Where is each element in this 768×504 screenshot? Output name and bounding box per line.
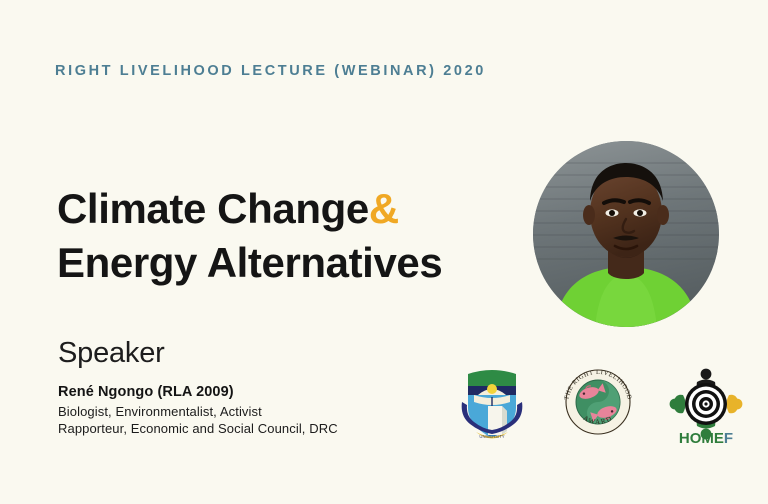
title-ampersand: & (369, 185, 399, 232)
speaker-role-line-1: Biologist, Environmentalist, Activist (58, 404, 262, 419)
homef-wordmark-f: F (724, 430, 733, 446)
speaker-portrait (533, 141, 719, 327)
speaker-name: René Ngongo (RLA 2009) (58, 384, 234, 400)
partner-logos: UNIVERSITY (440, 362, 756, 450)
svg-text:HOMEF: HOMEF (679, 430, 733, 446)
logo-right-livelihood-award: THE RIGHT LIVELIHOOD AWARD (558, 362, 638, 442)
svg-text:UNIVERSITY: UNIVERSITY (479, 434, 504, 439)
slide-kicker: RIGHT LIVELIHOOD LECTURE (WEBINAR) 2020 (55, 63, 486, 79)
logo-homef: HOMEF (662, 362, 750, 446)
page-title: Climate Change& Energy Alternatives (57, 182, 442, 290)
speaker-label: Speaker (58, 337, 165, 370)
homef-wordmark-home: HOME (679, 430, 724, 446)
presentation-slide: RIGHT LIVELIHOOD LECTURE (WEBINAR) 2020 … (0, 0, 768, 504)
title-line-2: Energy Alternatives (57, 236, 442, 290)
title-line-1-text: Climate Change (57, 185, 369, 232)
speaker-role-line-2: Rapporteur, Economic and Social Council,… (58, 421, 338, 436)
title-line-1: Climate Change& (57, 182, 442, 236)
logo-university-crest: UNIVERSITY (454, 362, 530, 442)
